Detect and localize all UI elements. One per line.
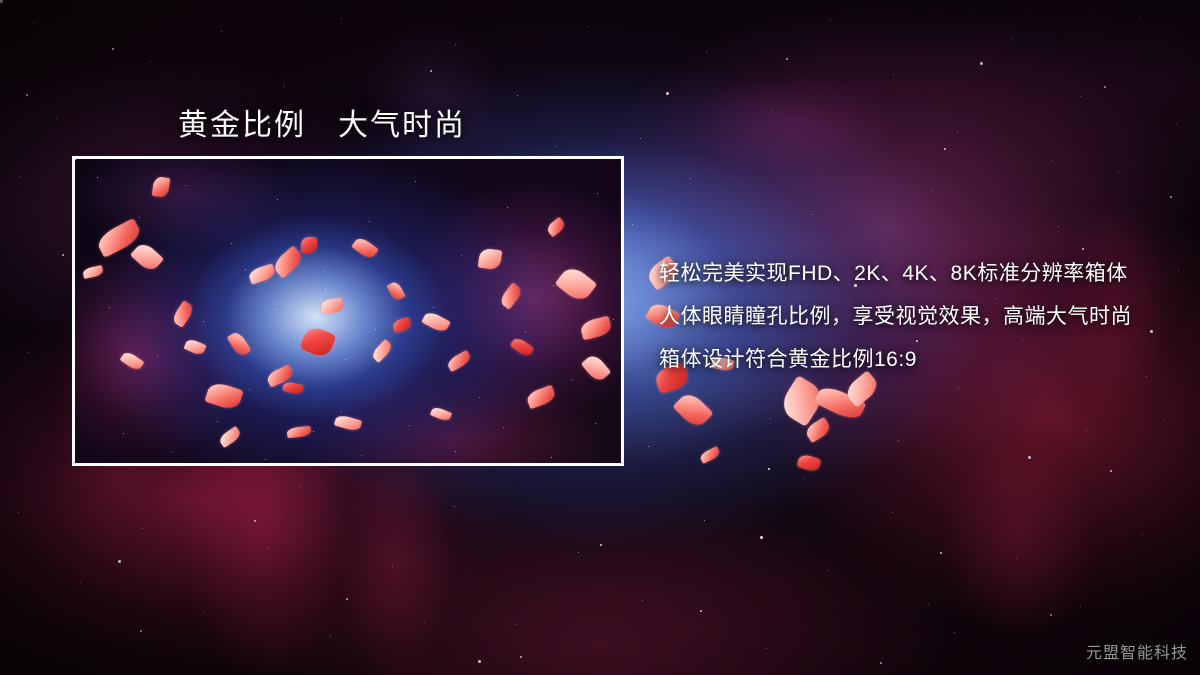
petal [301,237,317,253]
body-line: 箱体设计符合黄金比例16:9 [659,338,1132,381]
body-line: 轻松完美实现FHD、2K、4K、8K标准分辨率箱体 [659,252,1132,295]
slide-title: 黄金比例 大气时尚 [178,100,466,144]
body-text: 轻松完美实现FHD、2K、4K、8K标准分辨率箱体 人体眼睛瞳孔比例，享受视觉效… [659,252,1132,381]
watermark: 元盟智能科技 [1086,639,1188,663]
petals-in-nebula-photo [75,159,621,463]
photo-frame [72,156,624,466]
body-line: 人体眼睛瞳孔比例，享受视觉效果，高端大气时尚 [659,295,1132,338]
presentation-slide: 黄金比例 大气时尚 [0,0,1200,675]
